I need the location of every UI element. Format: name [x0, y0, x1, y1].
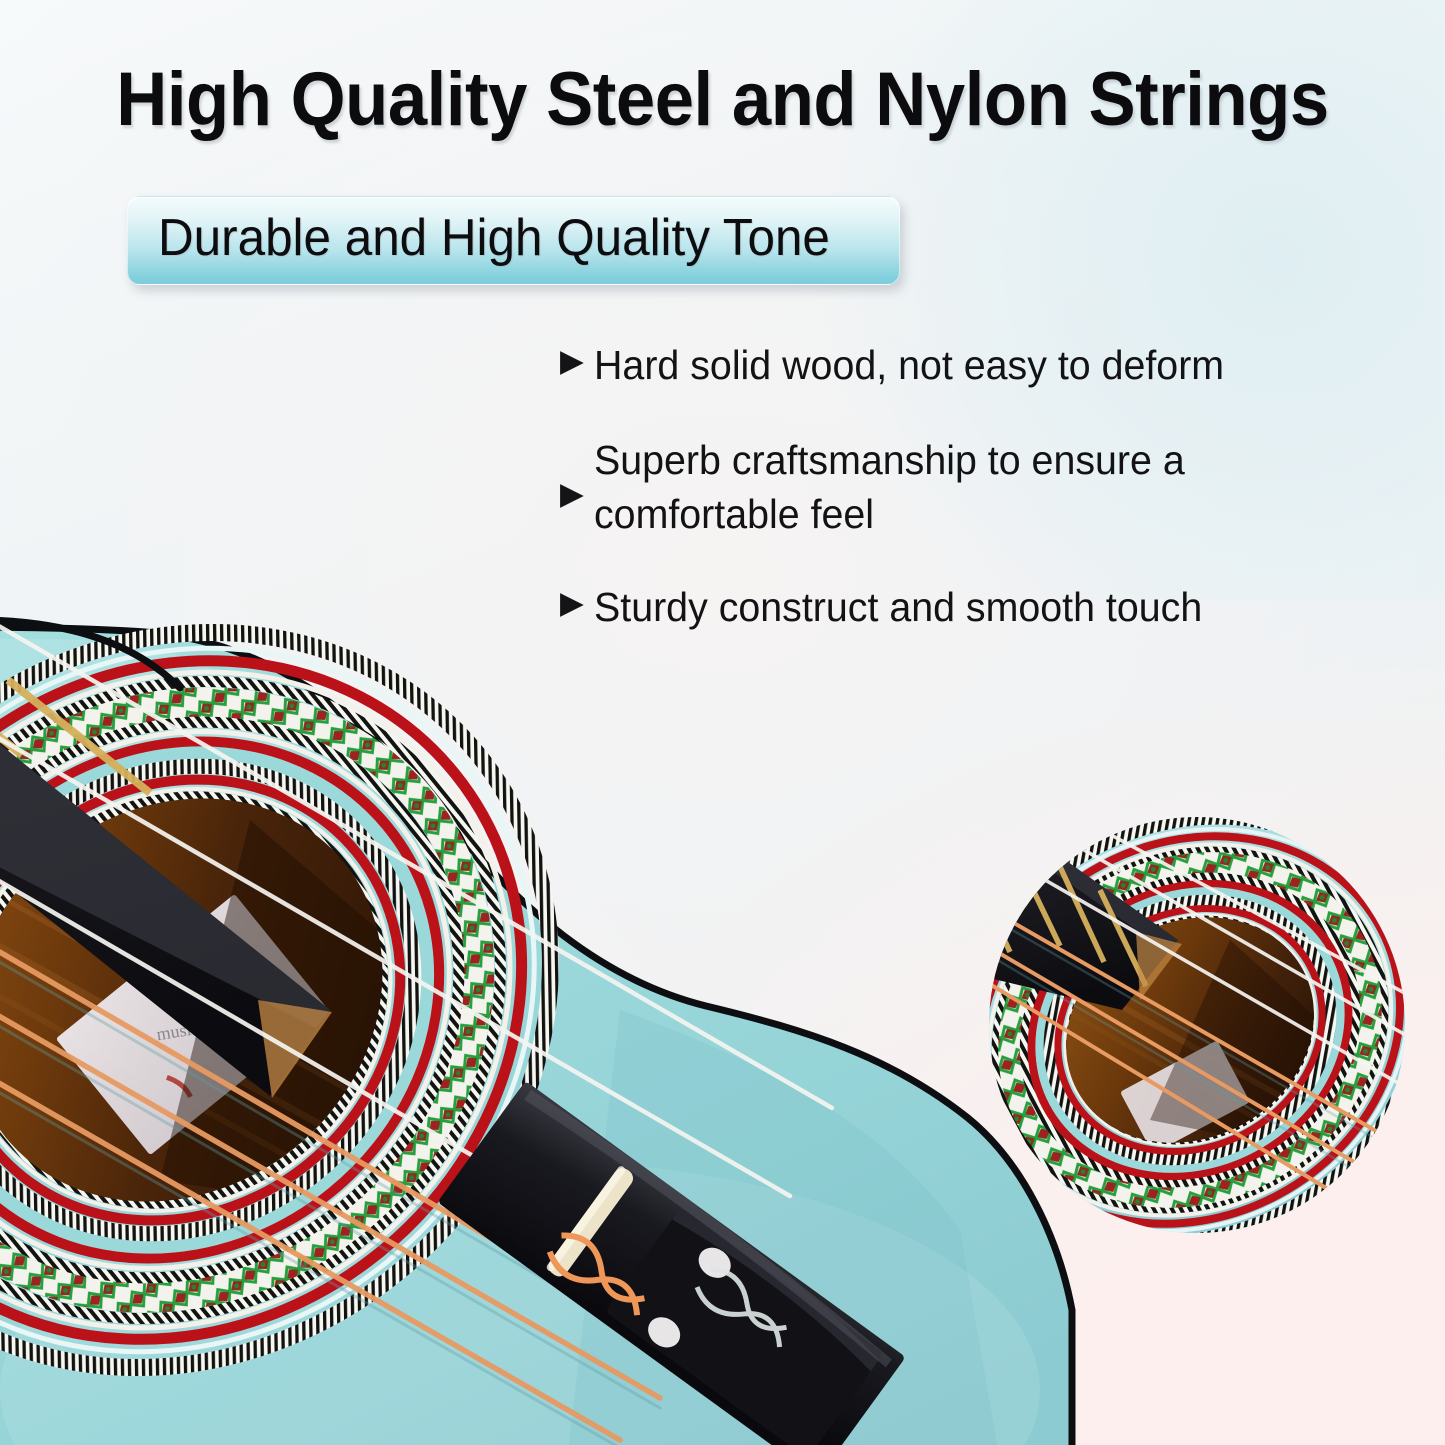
triangle-bullet-icon: ▶: [560, 338, 594, 382]
triangle-bullet-icon: ▶: [560, 433, 594, 515]
background-tint-bottom-left: [0, 845, 760, 1445]
subtitle-pill: Durable and High Quality Tone: [127, 196, 900, 285]
list-item: ▶ Hard solid wood, not easy to deform: [560, 338, 1426, 393]
list-item-label: Superb craftsmanship to ensure a comfort…: [594, 433, 1393, 542]
subtitle-banner: Durable and High Quality Tone: [127, 196, 900, 285]
product-feature-banner: music.com: [0, 0, 1445, 1445]
list-item: ▶ Sturdy construct and smooth touch: [560, 580, 1426, 635]
triangle-bullet-icon: ▶: [560, 580, 594, 624]
subtitle-text: Durable and High Quality Tone: [158, 211, 830, 266]
list-item-label: Sturdy construct and smooth touch: [594, 580, 1202, 635]
feature-list: ▶ Hard solid wood, not easy to deform ▶ …: [560, 338, 1426, 634]
list-item: ▶ Superb craftsmanship to ensure a comfo…: [560, 433, 1426, 542]
list-item-label: Hard solid wood, not easy to deform: [594, 338, 1224, 393]
page-title: High Quality Steel and Nylon Strings: [51, 62, 1395, 138]
